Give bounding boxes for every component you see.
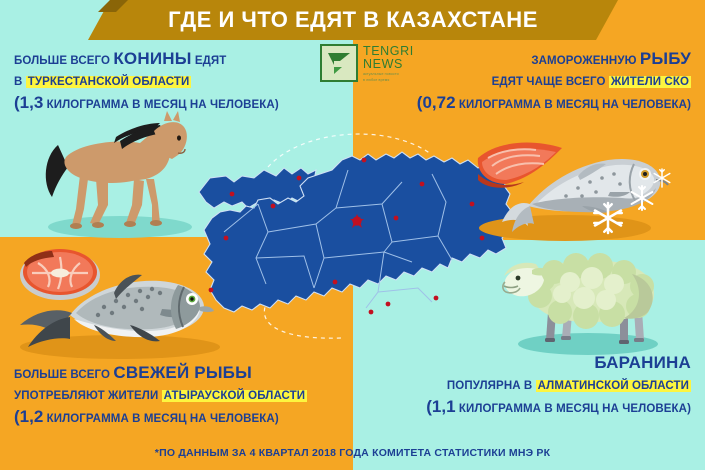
mutton-unit: КИЛОГРАММА В МЕСЯЦ НА ЧЕЛОВЕКА) bbox=[456, 403, 691, 415]
frozenfish-line-2: ЕДЯТ ЧАЩЕ ВСЕГО ЖИТЕЛИ СКО bbox=[417, 70, 691, 91]
freshfish-keyword: СВЕЖЕЙ РЫБЫ bbox=[113, 363, 252, 382]
page-title: ГДЕ И ЧТО ЕДЯТ В КАЗАХСТАНЕ bbox=[88, 0, 618, 40]
horse-illustration bbox=[28, 105, 208, 245]
freshfish-line-3: (1,2 КИЛОГРАММА В МЕСЯЦ НА ЧЕЛОВЕКА) bbox=[14, 406, 307, 428]
frozenfish-line-1: ЗАМОРОЖЕННУЮ РЫБУ bbox=[417, 48, 691, 70]
horsemeat-line-2: В ТУРКЕСТАНСКОЙ ОБЛАСТИ bbox=[14, 70, 279, 91]
horsemeat-unit: КИЛОГРАММА В МЕСЯЦ НА ЧЕЛОВЕКА) bbox=[43, 99, 278, 111]
source-note: *ПО ДАННЫМ ЗА 4 КВАРТАЛ 2018 ГОДА КОМИТЕ… bbox=[0, 435, 705, 470]
frozenfish-unit: КИЛОГРАММА В МЕСЯЦ НА ЧЕЛОВЕКА) bbox=[456, 99, 691, 111]
logo-line-2: NEWS bbox=[363, 58, 414, 71]
infographic-canvas: ГДЕ И ЧТО ЕДЯТ В КАЗАХСТАНЕ TENGRI NEWS … bbox=[0, 0, 705, 470]
tengrinews-logo[interactable]: TENGRI NEWS актуальные новости в любое в… bbox=[320, 44, 414, 83]
horsemeat-region-highlight: ТУРКЕСТАНСКОЙ ОБЛАСТИ bbox=[26, 76, 192, 88]
logo-line-1: TENGRI bbox=[363, 45, 414, 58]
freshfish-caption: БОЛЬШЕ ВСЕГО СВЕЖЕЙ РЫБЫ УПОТРЕБЛЯЮТ ЖИТ… bbox=[14, 362, 307, 428]
salmon-steak bbox=[20, 249, 100, 300]
horsemeat-line1-part1: БОЛЬШЕ ВСЕГО bbox=[14, 55, 113, 67]
frozen-fish-illustration bbox=[470, 122, 675, 255]
freshfish-line-1: БОЛЬШЕ ВСЕГО СВЕЖЕЙ РЫБЫ bbox=[14, 362, 307, 384]
mutton-value: 1,1 bbox=[432, 397, 456, 416]
mutton-line2-prefix: ПОПУЛЯРНА В bbox=[447, 380, 536, 392]
horsemeat-line-3: (1,3 КИЛОГРАММА В МЕСЯЦ НА ЧЕЛОВЕКА) bbox=[14, 92, 279, 114]
frozenfish-caption: ЗАМОРОЖЕННУЮ РЫБУ ЕДЯТ ЧАЩЕ ВСЕГО ЖИТЕЛИ… bbox=[417, 48, 691, 114]
freshfish-value: 1,2 bbox=[20, 407, 44, 426]
tengrinews-wordmark: TENGRI NEWS актуальные новости в любое в… bbox=[363, 44, 414, 83]
frozenfish-line-3: (0,72 КИЛОГРАММА В МЕСЯЦ НА ЧЕЛОВЕКА) bbox=[417, 92, 691, 114]
logo-tagline-1: актуальные новости bbox=[363, 72, 414, 77]
mutton-keyword: БАРАНИНА bbox=[594, 353, 691, 372]
frozenfish-region-highlight: ЖИТЕЛИ СКО bbox=[609, 76, 691, 88]
mutton-line-3: (1,1 КИЛОГРАММА В МЕСЯЦ НА ЧЕЛОВЕКА) bbox=[426, 396, 691, 418]
horsemeat-line2-prefix: В bbox=[14, 76, 26, 88]
tengrinews-flag-icon bbox=[320, 44, 358, 82]
horsemeat-caption: БОЛЬШЕ ВСЕГО КОНИНЫ ЕДЯТ В ТУРКЕСТАНСКОЙ… bbox=[14, 48, 279, 114]
salmon-fillet bbox=[478, 143, 562, 188]
mutton-caption: БАРАНИНА ПОПУЛЯРНА В АЛМАТИНСКОЙ ОБЛАСТИ… bbox=[426, 352, 691, 418]
frozenfish-value: 0,72 bbox=[422, 93, 455, 112]
freshfish-line2-prefix: УПОТРЕБЛЯЮТ ЖИТЕЛИ bbox=[14, 390, 162, 402]
horsemeat-line1-part2: ЕДЯТ bbox=[192, 55, 227, 67]
kazakhstan-map bbox=[196, 112, 516, 362]
logo-tagline-2: в любое время bbox=[363, 78, 414, 83]
mutton-line-1: БАРАНИНА bbox=[426, 352, 691, 374]
mutton-line-2: ПОПУЛЯРНА В АЛМАТИНСКОЙ ОБЛАСТИ bbox=[426, 374, 691, 395]
mutton-region-highlight: АЛМАТИНСКОЙ ОБЛАСТИ bbox=[536, 380, 691, 392]
frozenfish-line2-prefix: ЕДЯТ ЧАЩЕ ВСЕГО bbox=[492, 76, 609, 88]
fresh-fish-illustration bbox=[8, 243, 226, 368]
frozenfish-line1-part1: ЗАМОРОЖЕННУЮ bbox=[531, 55, 640, 67]
freshfish-line-2: УПОТРЕБЛЯЮТ ЖИТЕЛИ АТЫРАУСКОЙ ОБЛАСТИ bbox=[14, 384, 307, 405]
frozenfish-keyword: РЫБУ bbox=[640, 49, 691, 68]
horsemeat-line-1: БОЛЬШЕ ВСЕГО КОНИНЫ ЕДЯТ bbox=[14, 48, 279, 70]
horsemeat-value: 1,3 bbox=[20, 93, 44, 112]
horsemeat-keyword: КОНИНЫ bbox=[113, 49, 191, 68]
freshfish-line1-part1: БОЛЬШЕ ВСЕГО bbox=[14, 369, 113, 381]
sheep-illustration bbox=[492, 248, 677, 365]
freshfish-unit: КИЛОГРАММА В МЕСЯЦ НА ЧЕЛОВЕКА) bbox=[43, 413, 278, 425]
freshfish-region-highlight: АТЫРАУСКОЙ ОБЛАСТИ bbox=[162, 390, 308, 402]
